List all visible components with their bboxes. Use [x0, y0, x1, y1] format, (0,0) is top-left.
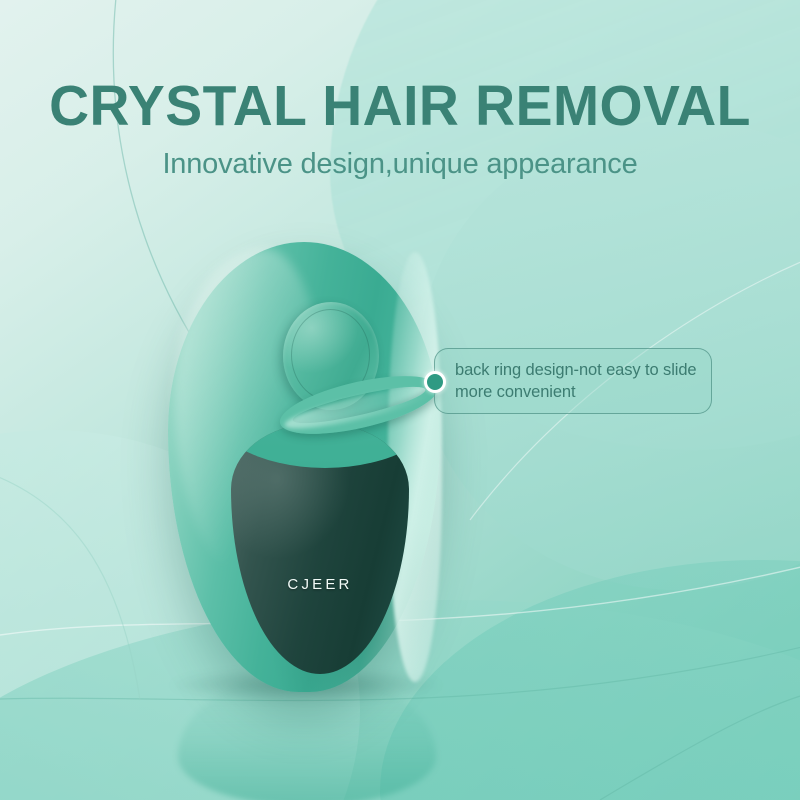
product-device: CJEER	[168, 242, 440, 692]
feature-callout: back ring design-not easy to slide more …	[434, 348, 712, 414]
callout-text: back ring design-not easy to slide more …	[455, 359, 711, 404]
page-title: CRYSTAL HAIR REMOVAL	[12, 78, 788, 135]
page-subtitle: Innovative design,unique appearance	[0, 148, 800, 181]
product-banner: CRYSTAL HAIR REMOVAL Innovative design,u…	[0, 0, 800, 800]
callout-dot-icon	[424, 371, 446, 393]
brand-logo: CJEER	[231, 576, 409, 593]
